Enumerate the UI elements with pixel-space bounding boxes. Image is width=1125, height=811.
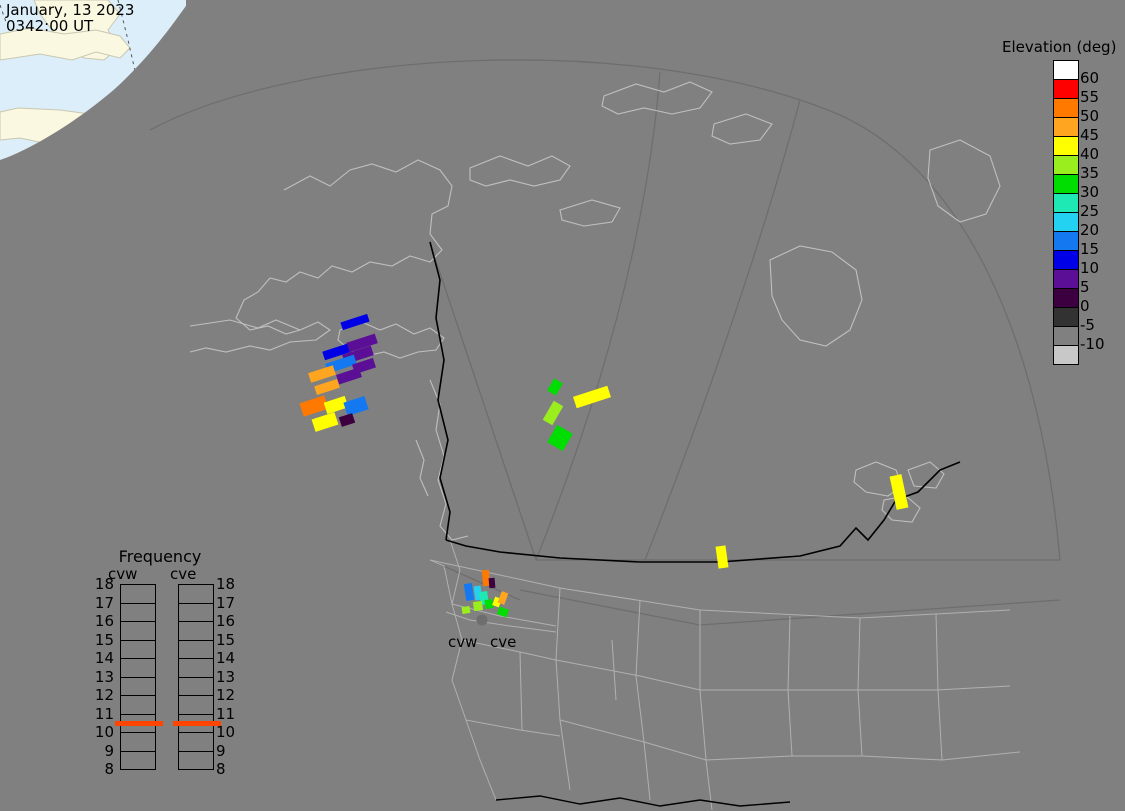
elevation-swatch-13 — [1054, 307, 1078, 326]
frequency-tick-right-11: 11 — [216, 707, 250, 722]
frequency-tick-left-17: 17 — [80, 596, 114, 611]
frequency-tick-right-14: 14 — [216, 651, 250, 666]
frequency-tick-right-15: 15 — [216, 633, 250, 648]
station-label-cve: cve — [490, 635, 516, 650]
frequency-cell — [179, 677, 213, 696]
elevation-swatch-0 — [1054, 61, 1078, 79]
frequency-tick-left-10: 10 — [80, 725, 114, 740]
frequency-cell — [179, 714, 213, 733]
backscatter-patch-21 — [489, 578, 496, 588]
elevation-swatch-11 — [1054, 269, 1078, 288]
elevation-tick-5: 5 — [1080, 280, 1090, 295]
elevation-tick-30: 30 — [1080, 185, 1099, 200]
frequency-tick-right-8: 8 — [216, 762, 250, 777]
elevation-swatch-15 — [1054, 345, 1078, 364]
elevation-tick-0: 0 — [1080, 299, 1090, 314]
elevation-tick-55: 55 — [1080, 90, 1099, 105]
frequency-tick-left-16: 16 — [80, 614, 114, 629]
elevation-tick-20: 20 — [1080, 223, 1099, 238]
frequency-marker-cve — [173, 721, 221, 726]
frequency-cell — [121, 621, 155, 640]
backscatter-patch-20 — [482, 570, 490, 587]
frequency-cell — [121, 714, 155, 733]
frequency-tick-right-18: 18 — [216, 577, 250, 592]
elevation-swatch-2 — [1054, 98, 1078, 117]
elevation-swatch-12 — [1054, 288, 1078, 307]
elevation-swatch-10 — [1054, 250, 1078, 269]
frequency-tick-right-10: 10 — [216, 725, 250, 740]
elevation-swatch-7 — [1054, 193, 1078, 212]
frequency-tick-left-15: 15 — [80, 633, 114, 648]
frequency-tick-left-12: 12 — [80, 688, 114, 703]
frequency-column-title-cve: cve — [170, 566, 196, 582]
elevation-swatch-6 — [1054, 174, 1078, 193]
frequency-cell — [179, 640, 213, 659]
frequency-cell — [121, 640, 155, 659]
frequency-bar-cvw — [120, 584, 156, 770]
frequency-cell — [121, 695, 155, 714]
elevation-swatch-1 — [1054, 79, 1078, 98]
backscatter-patch-26 — [484, 599, 493, 609]
elevation-swatch-14 — [1054, 326, 1078, 345]
frequency-cell — [179, 732, 213, 751]
elevation-tick-60: 60 — [1080, 71, 1099, 86]
frequency-cell — [179, 621, 213, 640]
frequency-cell — [121, 603, 155, 622]
elevation-tick-25: 25 — [1080, 204, 1099, 219]
elevation-swatch-5 — [1054, 155, 1078, 174]
frequency-tick-right-9: 9 — [216, 744, 250, 759]
radar-site-marker — [477, 615, 488, 626]
elevation-tick-35: 35 — [1080, 166, 1099, 181]
elevation-tick-10: 10 — [1080, 261, 1099, 276]
timestamp: January, 13 20230342:00 UT — [6, 2, 134, 34]
frequency-legend: Frequency cvw cve 18171615141312111098 1… — [80, 548, 240, 784]
elevation-colorbar — [1053, 60, 1079, 365]
frequency-cell — [121, 751, 155, 770]
station-label-cvw: cvw — [448, 635, 477, 650]
frequency-cell — [179, 751, 213, 770]
frequency-tick-left-13: 13 — [80, 670, 114, 685]
frequency-tick-left-11: 11 — [80, 707, 114, 722]
frequency-cell — [179, 658, 213, 677]
frequency-tick-left-14: 14 — [80, 651, 114, 666]
frequency-legend-title: Frequency — [80, 548, 240, 566]
elevation-swatch-8 — [1054, 212, 1078, 231]
frequency-cell — [121, 677, 155, 696]
frequency-tick-right-16: 16 — [216, 614, 250, 629]
elevation-swatch-9 — [1054, 231, 1078, 250]
elevation-legend-title: Elevation (deg) — [1002, 38, 1125, 56]
elevation-swatch-3 — [1054, 117, 1078, 136]
frequency-cell — [121, 732, 155, 751]
frequency-tick-left-9: 9 — [80, 744, 114, 759]
frequency-tick-right-13: 13 — [216, 670, 250, 685]
backscatter-patch-25 — [473, 601, 483, 611]
elevation-tick-50: 50 — [1080, 109, 1099, 124]
backscatter-patch-30 — [462, 606, 471, 614]
elevation-tick-45: 45 — [1080, 128, 1099, 143]
elevation-tick-15: 15 — [1080, 242, 1099, 257]
frequency-bar-cve — [178, 584, 214, 770]
frequency-cell — [121, 658, 155, 677]
frequency-cell — [179, 695, 213, 714]
timestamp-time: 0342:00 UT — [6, 17, 93, 35]
frequency-tick-left-8: 8 — [80, 762, 114, 777]
frequency-cell — [121, 585, 155, 603]
frequency-cell — [179, 603, 213, 622]
frequency-cell — [179, 585, 213, 603]
radar-map-figure: January, 13 20230342:00 UT cvw cve Eleva… — [0, 0, 1125, 811]
frequency-tick-right-12: 12 — [216, 688, 250, 703]
elevation-swatch-4 — [1054, 136, 1078, 155]
elevation-tick-40: 40 — [1080, 147, 1099, 162]
elevation-tick--5: -5 — [1080, 318, 1095, 333]
elevation-legend: Elevation (deg) 605550454035302520151050… — [1000, 38, 1125, 60]
frequency-tick-right-17: 17 — [216, 596, 250, 611]
frequency-marker-cvw — [115, 721, 163, 726]
elevation-tick--10: -10 — [1080, 337, 1105, 352]
frequency-tick-left-18: 18 — [80, 577, 114, 592]
